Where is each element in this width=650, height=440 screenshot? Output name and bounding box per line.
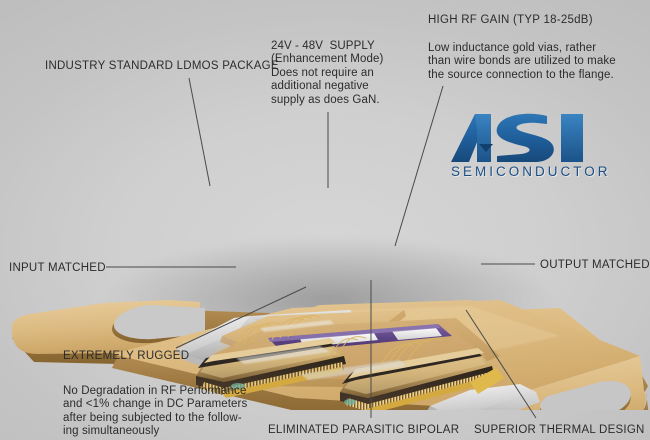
annotation-no-degradation: No Degradation in RF Performance and <1%… <box>63 385 247 439</box>
annotation-supply-voltage: 24V - 48V SUPPLY (Enhancement Mode) Does… <box>271 40 383 107</box>
diagram-canvas: INDUSTRY STANDARD LDMOS PACKAGE24V - 48V… <box>0 0 650 440</box>
asi-semiconductor-logo: SEMICONDUCTOR <box>449 112 595 188</box>
annotation-superior-thermal-design: SUPERIOR THERMAL DESIGN <box>474 424 645 436</box>
annotation-input-matched: INPUT MATCHED <box>9 262 106 274</box>
logo-subtext: SEMICONDUCTOR <box>451 164 595 179</box>
asi-logo-mark <box>449 112 595 164</box>
annotation-industry-standard-ldmos-package: INDUSTRY STANDARD LDMOS PACKAGE <box>45 60 279 72</box>
annotation-low-inductance-gold-vias: Low inductance gold vias, rather than wi… <box>428 42 616 82</box>
annotation-eliminated-parasitic-bipolar: ELIMINATED PARASITIC BIPOLAR <box>268 424 459 436</box>
annotation-extremely-rugged: EXTREMELY RUGGED <box>63 350 189 362</box>
annotation-output-matched: OUTPUT MATCHED <box>540 259 650 271</box>
annotation-high-rf-gain: HIGH RF GAIN (TYP 18-25dB) <box>428 14 593 26</box>
ldmos-device-illustration <box>0 150 650 410</box>
